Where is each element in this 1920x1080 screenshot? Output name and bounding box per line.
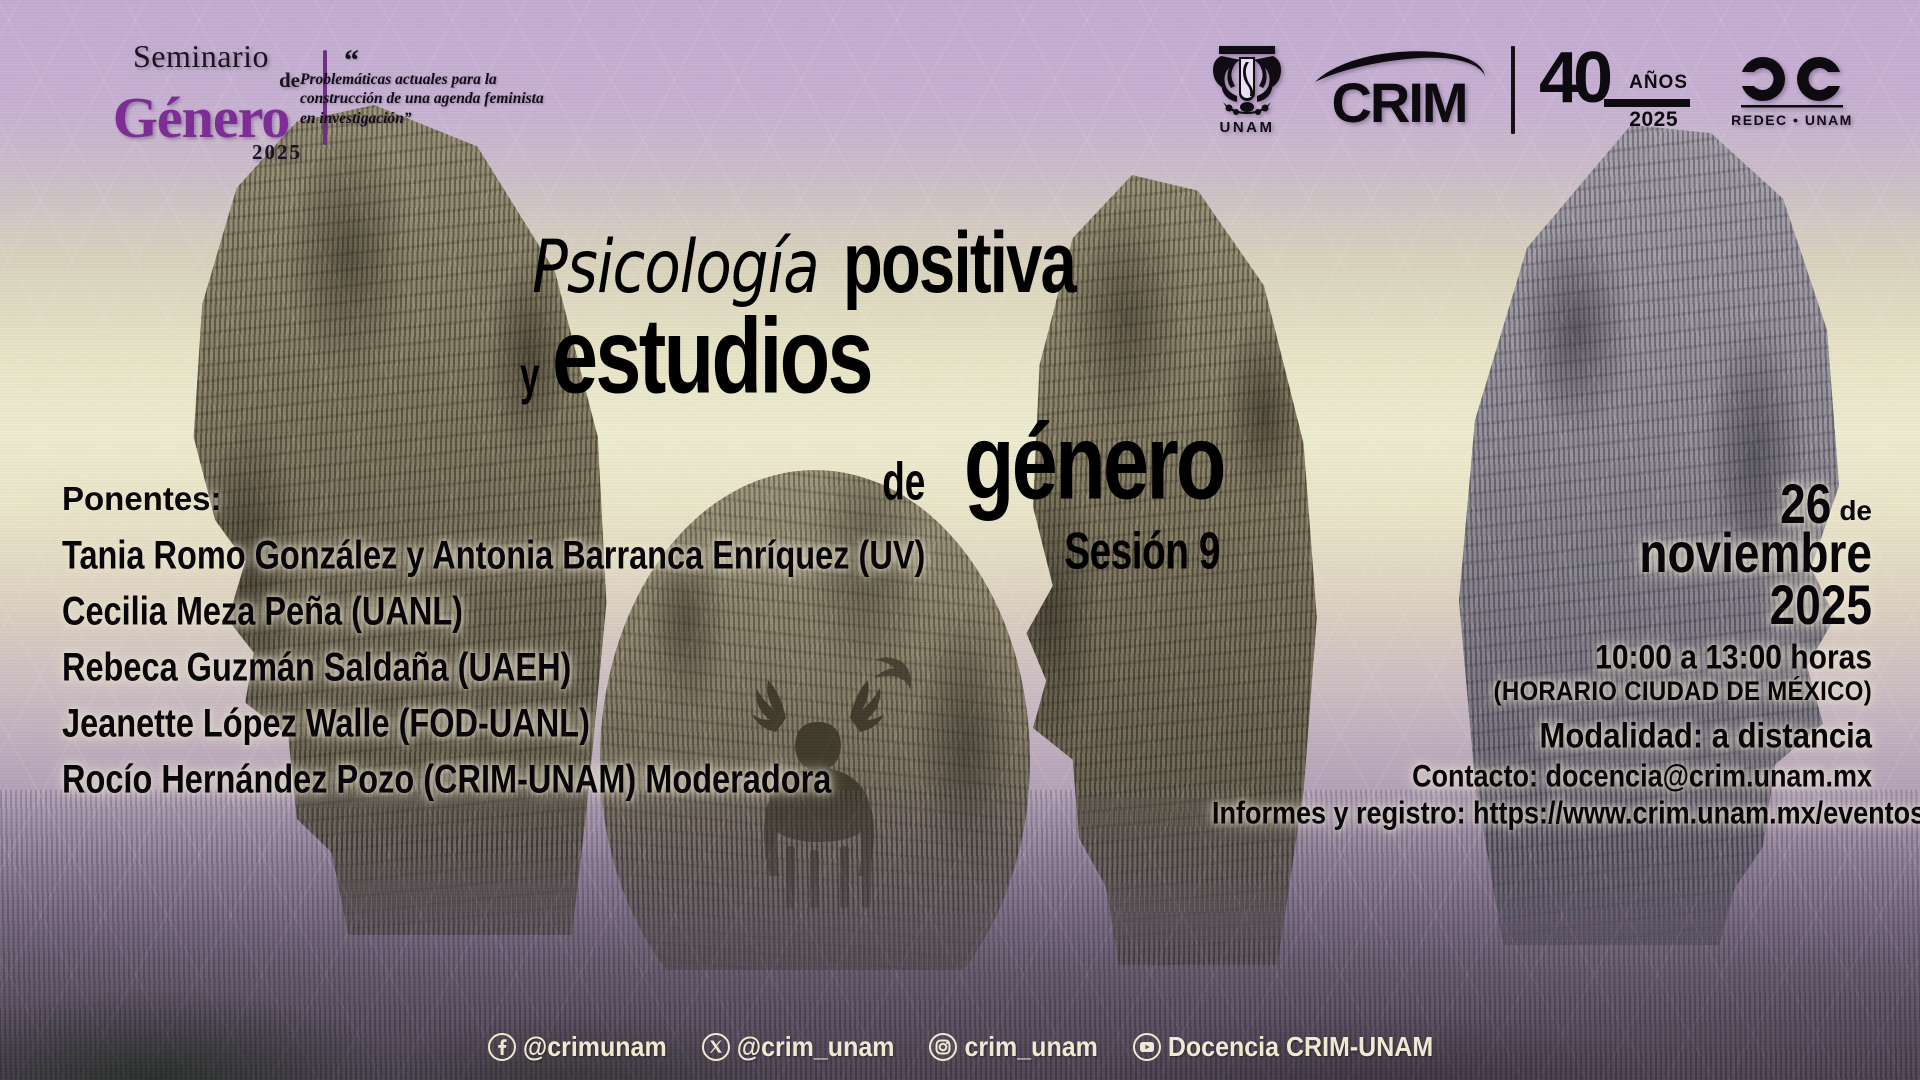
seminar-logo-line3: Género: [96, 91, 306, 144]
title-word-y: y: [520, 350, 540, 403]
x-twitter-icon[interactable]: [701, 1032, 731, 1062]
anniversary-rule: [1604, 99, 1690, 107]
title-word-estudios: estudios: [552, 303, 871, 410]
social-youtube[interactable]: Docencia CRIM-UNAM: [1132, 1032, 1433, 1062]
event-year: 2025: [1212, 574, 1872, 637]
speakers-block: Ponentes: Tania Romo González y Antonia …: [62, 480, 862, 816]
facebook-icon[interactable]: [487, 1032, 517, 1062]
event-details-block: 26de noviembre 2025 10:00 a 13:00 horas …: [1212, 480, 1872, 831]
seminario-genero-logo: Seminario de Género 2025: [96, 40, 306, 165]
anniversary-40-logo: 40 AÑOS 2025: [1537, 42, 1692, 138]
social-instagram-handle: crim_unam: [964, 1031, 1097, 1063]
anniversary-number: 40: [1539, 46, 1607, 111]
event-timezone: (HORARIO CIUDAD DE MÉXICO): [1212, 675, 1872, 709]
speaker-item: Rocío Hernández Pozo (CRIM-UNAM) Moderad…: [62, 756, 850, 802]
social-instagram[interactable]: crim_unam: [928, 1032, 1097, 1062]
event-poster: Seminario de Género 2025 “ Problemáticas…: [0, 0, 1920, 1080]
social-x[interactable]: @crim_unam: [701, 1032, 895, 1062]
anniversary-word: AÑOS: [1629, 72, 1688, 94]
crim-logo-text: CRIM: [1331, 76, 1466, 129]
youtube-icon[interactable]: [1132, 1032, 1162, 1062]
social-facebook-handle: @crimunam: [523, 1031, 667, 1063]
seminar-tagline: “ Problemáticas actuales para la constru…: [300, 52, 550, 128]
social-x-handle: @crim_unam: [737, 1031, 895, 1063]
instagram-icon[interactable]: [928, 1032, 958, 1062]
speaker-item: Cecilia Meza Peña (UANL): [62, 588, 850, 634]
logo-divider: [1511, 46, 1515, 134]
social-youtube-handle: Docencia CRIM-UNAM: [1168, 1031, 1433, 1063]
title-word-genero: género: [964, 409, 1224, 516]
speaker-item: Jeanette López Walle (FOD-UANL): [62, 700, 850, 746]
redec-logo-caption: REDEC • UNAM: [1731, 112, 1853, 128]
title-word-de: de: [882, 456, 925, 509]
open-quote-mark: “: [344, 52, 550, 70]
speaker-item: Rebeca Guzmán Saldaña (UAEH): [62, 644, 850, 690]
seminar-tagline-text: Problemáticas actuales para la construcc…: [300, 71, 544, 127]
crim-logo: CRIM: [1309, 50, 1489, 129]
title-word-positiva: positiva: [843, 220, 1075, 306]
seminar-logo-line1: Seminario: [96, 40, 306, 72]
redec-mark-icon: [1733, 53, 1851, 109]
redec-unam-logo: REDEC • UNAM: [1722, 53, 1862, 128]
social-facebook[interactable]: @crimunam: [487, 1032, 667, 1062]
event-contact: Contacto: docencia@crim.unam.mx: [1212, 756, 1872, 796]
poster-header: Seminario de Género 2025 “ Problemáticas…: [0, 0, 1920, 160]
social-media-bar: @crimunam @crim_unam crim_unam: [0, 1032, 1920, 1062]
unam-logo-caption: UNAM: [1220, 119, 1275, 136]
anniversary-year: 2025: [1629, 108, 1678, 132]
unam-shield-icon: [1209, 44, 1285, 118]
title-word-psicologia: Psicología: [532, 231, 819, 304]
event-modality: Modalidad: a distancia: [1212, 712, 1872, 760]
unam-logo: UNAM: [1201, 44, 1293, 136]
institution-logos: UNAM CRIM 40 AÑOS 2025: [1201, 34, 1862, 146]
event-registration-link[interactable]: Informes y registro: https://www.crim.un…: [1212, 793, 1872, 833]
speaker-item: Tania Romo González y Antonia Barranca E…: [62, 532, 850, 578]
speakers-heading: Ponentes:: [62, 480, 862, 518]
session-label-text: Sesión 9: [1064, 526, 1220, 578]
event-hours: 10:00 a 13:00 horas: [1212, 635, 1872, 680]
